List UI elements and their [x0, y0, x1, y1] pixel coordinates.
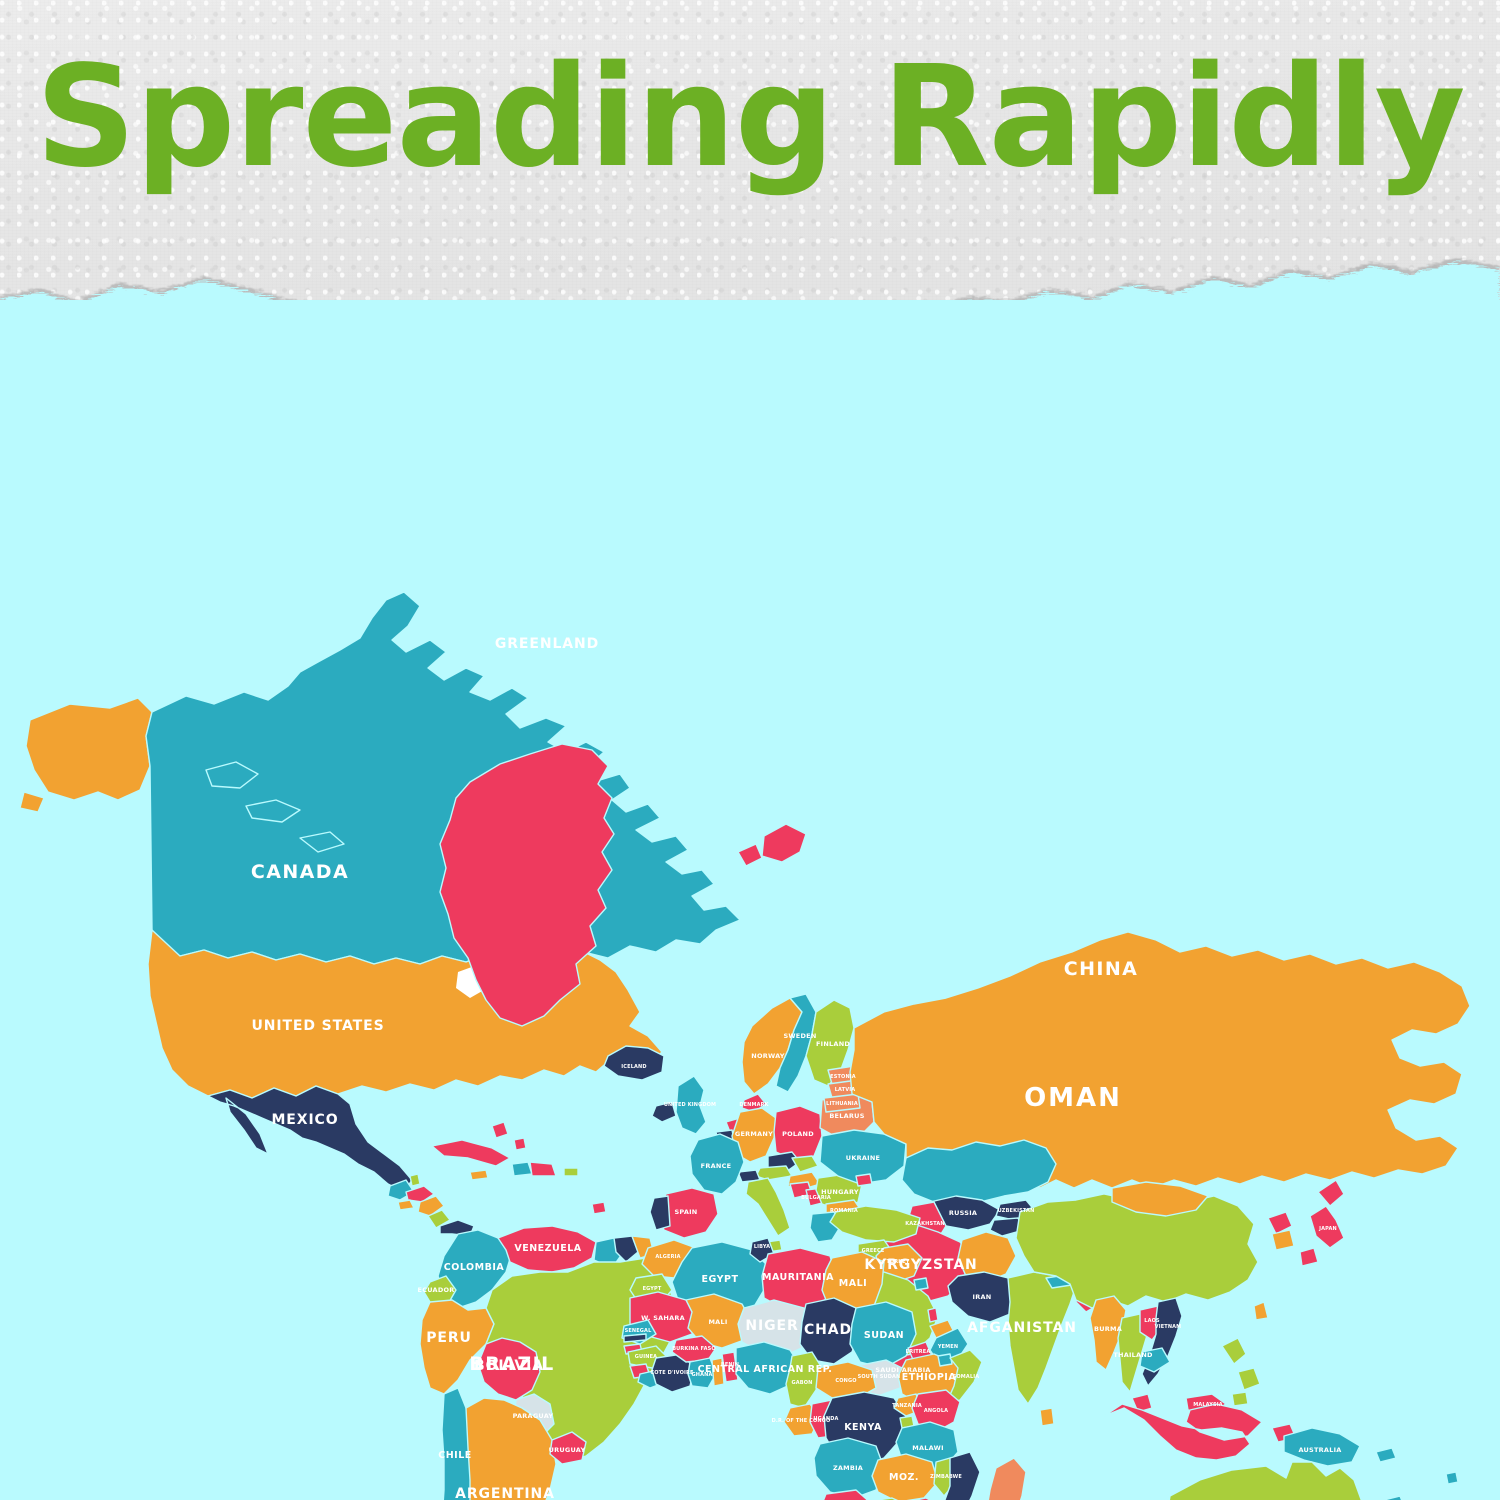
country-kuwait[interactable] [914, 1278, 928, 1290]
label-argentina: ARGENTINA [455, 1486, 555, 1500]
label-kenya: ANGOLA [924, 1408, 948, 1414]
label-ecuador: ECUADOR [418, 1286, 455, 1294]
label-iceland: ICELAND [621, 1064, 646, 1070]
country-south-korea[interactable] [1272, 1230, 1294, 1250]
label-nigeria: CENTRAL AFRICAN REP. [698, 1364, 833, 1375]
label-mali: MALI [708, 1318, 727, 1326]
label-ukraine: UKRAINE [846, 1154, 880, 1162]
label-niger: NIGER [745, 1318, 798, 1334]
label-egypt: MALI [839, 1278, 867, 1289]
label-cameroon: GABON [792, 1380, 813, 1386]
label-denmark: DENMARK [739, 1102, 769, 1108]
label-eritrea: ERITREA [906, 1349, 931, 1355]
label-malawi: ZIMBABWE [930, 1474, 962, 1480]
label-burma: BURMA [1094, 1325, 1122, 1333]
poster-canvas: Spreading Rapidly [0, 0, 1500, 1500]
label-central-african-rep: CONGO [835, 1378, 856, 1384]
label-kyrgyzstan: UZBEKISTAN [998, 1208, 1035, 1214]
label-finland: FINLAND [816, 1040, 850, 1048]
label-uruguay: URUGUAY [549, 1446, 586, 1454]
label-burkina-faso: BURKINA FASO [672, 1346, 716, 1352]
label-uk: UNITED KINGDOM [664, 1102, 716, 1108]
label-ghana: GHANA [692, 1372, 713, 1378]
label-tanzania: MALAWI [912, 1444, 943, 1452]
label-malaysia: MALAYSIA [1193, 1402, 1223, 1408]
torn-paper-header: Spreading Rapidly [0, 0, 1500, 345]
label-tunisia: LIBYA [754, 1244, 770, 1250]
label-turkmenistan: KAZAKHSTAN [905, 1221, 944, 1227]
label-united-states: UNITED STATES [251, 1018, 384, 1034]
label-oman: YEMEN [937, 1344, 958, 1350]
country-moldova[interactable] [856, 1174, 872, 1186]
label-papua-new-guinea: AUSTRALIA [1298, 1446, 1341, 1454]
country-qatar[interactable] [928, 1308, 938, 1322]
label-colombia: COLOMBIA [444, 1262, 505, 1273]
label-japan: JAPAN [1318, 1226, 1337, 1232]
label-yemen: SAUDI ARABIA [875, 1366, 930, 1374]
label-france: FRANCE [701, 1162, 732, 1170]
label-mauritania: W. SAHARA [641, 1314, 685, 1322]
label-iran: KYRGYZSTAN [864, 1257, 977, 1273]
label-canada: CANADA [251, 861, 349, 883]
label-germany: GERMANY [735, 1130, 773, 1138]
label-sudan: SUDAN [864, 1330, 904, 1341]
world-map: CANADA UNITED STATES MEXICO GREENLAND IC… [0, 300, 1500, 1500]
label-south-sudan: SOUTH SUDAN [858, 1374, 901, 1380]
country-puerto-rico[interactable] [564, 1168, 578, 1176]
label-mexico: MEXICO [271, 1112, 338, 1128]
country-djibouti[interactable] [938, 1354, 952, 1366]
label-cote-divoire: COTE D'IVOIRE [650, 1370, 694, 1376]
label-spain: SPAIN [675, 1208, 698, 1216]
label-belarus: BELARUS [829, 1112, 864, 1120]
label-pakistan: IRAN [973, 1293, 992, 1301]
label-angola: ZAMBIA [833, 1464, 863, 1472]
label-peru: PERU [426, 1330, 472, 1346]
label-zambia: MOZ. [889, 1472, 919, 1483]
label-chile: CHILE [438, 1450, 472, 1461]
label-lithuania: LITHUANIA [826, 1101, 858, 1107]
label-vietnam: VIETNAM [1155, 1324, 1182, 1330]
country-jamaica[interactable] [470, 1170, 488, 1180]
label-latvia: LATVIA [835, 1087, 856, 1093]
label-western-sahara: EGYPT [643, 1286, 662, 1292]
label-poland: POLAND [782, 1130, 814, 1138]
country-gambia[interactable] [624, 1334, 646, 1342]
label-uganda: TANZANIA [892, 1403, 922, 1409]
country-dominican-republic[interactable] [530, 1162, 556, 1176]
label-russia: OMAN [1024, 1083, 1122, 1113]
label-morocco: ALGERIA [655, 1254, 680, 1260]
country-fiji[interactable] [1446, 1472, 1458, 1484]
label-norway: NORWAY [751, 1052, 785, 1060]
label-greenland: GREENLAND [495, 636, 599, 652]
label-sweden: SWEDEN [783, 1032, 816, 1040]
label-estonia: ESTONIA [830, 1074, 856, 1080]
label-congo: UGANDA [813, 1416, 838, 1422]
label-algeria: EGYPT [702, 1274, 739, 1285]
country-belize[interactable] [410, 1174, 420, 1186]
page-title: Spreading Rapidly [0, 48, 1500, 188]
label-syria: GREECE [862, 1248, 885, 1254]
label-libya: MAURITANIA [762, 1272, 834, 1283]
label-iraq: TURKEY [886, 1259, 909, 1265]
label-paraguay: PARAGUAY [513, 1412, 554, 1420]
label-guinea: GUINEA [635, 1354, 657, 1360]
country-sri-lanka[interactable] [1040, 1408, 1054, 1426]
label-uzbekistan: RUSSIA [949, 1209, 977, 1217]
label-thailand: THAILAND [1113, 1351, 1153, 1359]
label-china: CHINA [1064, 958, 1139, 980]
label-bolivia: BOLIVIA [474, 1358, 544, 1374]
label-chad: CHAD [804, 1322, 852, 1338]
label-serbia: BULGARIA [801, 1195, 831, 1201]
label-india: AFGANISTAN [967, 1320, 1077, 1336]
label-senegal: SENEGAL [625, 1328, 652, 1334]
label-bulgaria: ROMANIA [830, 1208, 858, 1214]
country-trinidad[interactable] [592, 1202, 606, 1214]
country-haiti[interactable] [512, 1162, 532, 1176]
label-venezuela: VENEZUELA [514, 1243, 581, 1254]
label-dr-congo: KENYA [844, 1422, 882, 1433]
label-benin: BENIN [721, 1362, 739, 1368]
label-somalia: SOMALIA [953, 1374, 980, 1380]
